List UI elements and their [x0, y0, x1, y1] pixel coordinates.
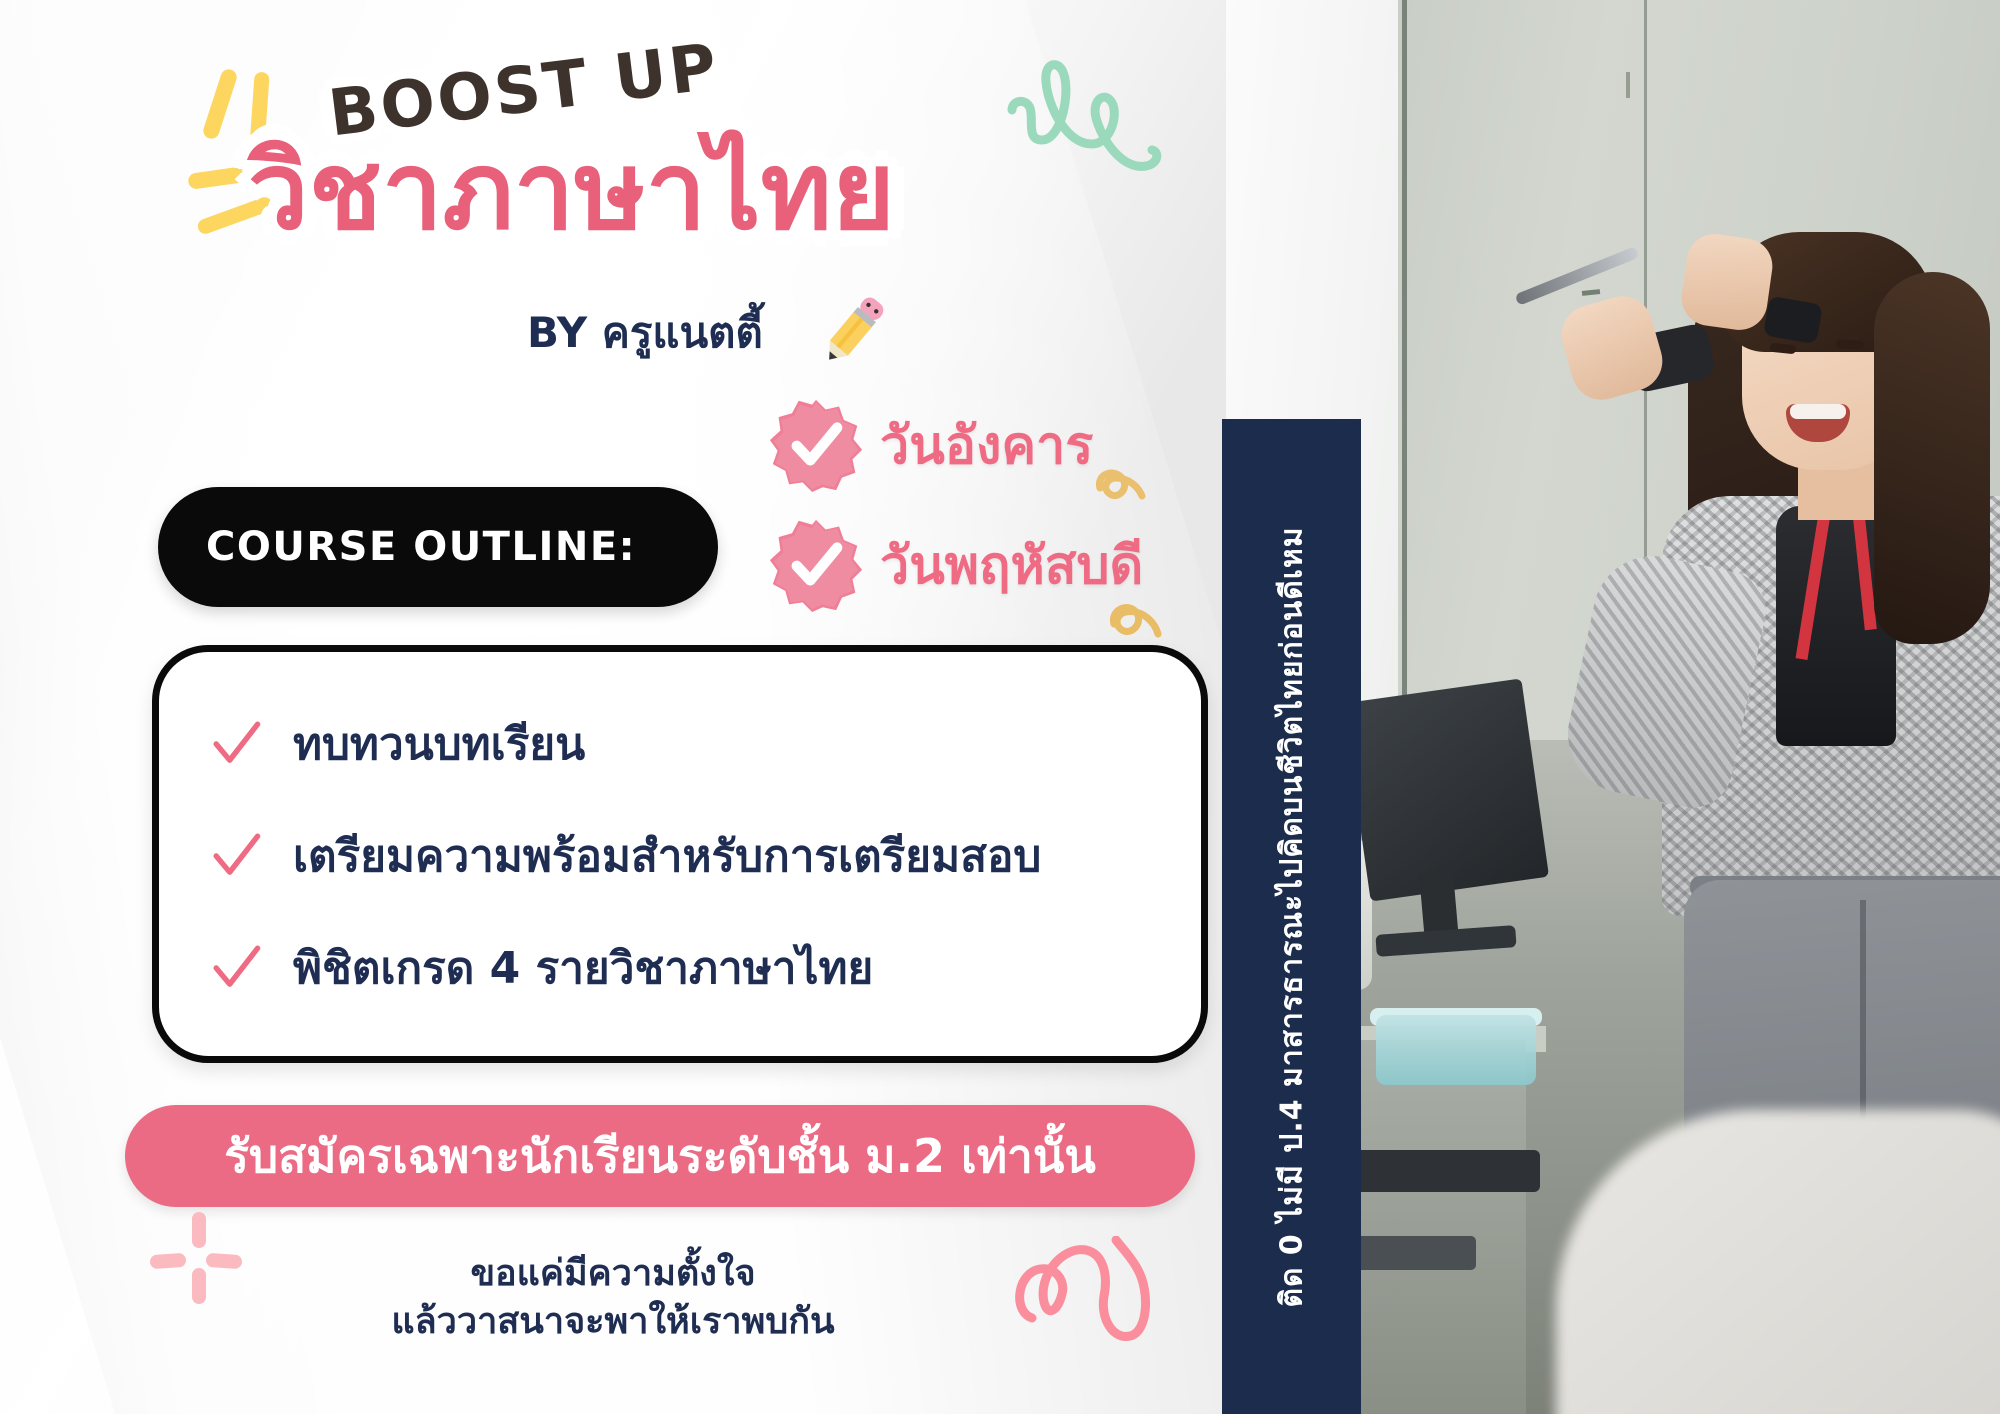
outline-item[interactable]: เตรียมความพร้อมสำหรับการเตรียมสอบ	[209, 800, 1151, 912]
check-badge-icon	[768, 516, 864, 612]
navy-vertical-strip: ติด 0 ไม่มี ป.4 มาสารธารณะไปคิดบนชีวิตไท…	[1222, 419, 1361, 1414]
schedule-days: วันอังคาร วันพฤหัสบดี	[768, 396, 1143, 636]
day-label: วันอังคาร	[880, 403, 1093, 486]
check-badge-icon	[768, 396, 864, 492]
course-outline-heading-text: COURSE OUTLINE:	[206, 524, 636, 570]
outline-item[interactable]: พิชิตเกรด 4 รายวิชาภาษาไทย	[209, 912, 1151, 1024]
byline: BY ครูแนตตี้	[527, 300, 763, 366]
outline-item-label: เตรียมความพร้อมสำหรับการเตรียมสอบ	[293, 821, 1041, 891]
teacher-hair-side	[1874, 272, 1990, 644]
check-icon	[209, 941, 263, 995]
sparkle-icon	[150, 1212, 246, 1308]
navy-strip-text: ติด 0 ไม่มี ป.4 มาสารธารณะไปคิดบนชีวิตไท…	[1268, 526, 1315, 1307]
day-label: วันพฤหัสบดี	[880, 523, 1143, 606]
teacher-teeth	[1790, 404, 1846, 419]
course-outline-heading-pill: COURSE OUTLINE:	[158, 487, 718, 607]
teacher-hand-upper	[1678, 230, 1776, 333]
outline-item-label: พิชิตเกรด 4 รายวิชาภาษาไทย	[293, 933, 873, 1003]
check-icon	[209, 829, 263, 883]
outline-item[interactable]: ทบทวนบทเรียน	[209, 688, 1151, 800]
day-row[interactable]: วันอังคาร	[768, 396, 1143, 492]
eligibility-banner: รับสมัครเฉพาะนักเรียนระดับชั้น ม.2 เท่าน…	[125, 1105, 1195, 1207]
check-icon	[209, 717, 263, 771]
day-row[interactable]: วันพฤหัสบดี	[768, 516, 1143, 612]
page-title: วิชาภาษาไทย	[248, 130, 1078, 270]
eligibility-banner-text: รับสมัครเฉพาะนักเรียนระดับชั้น ม.2 เท่าน…	[224, 1120, 1096, 1193]
course-outline-card: ทบทวนบทเรียน เตรียมความพร้อมสำหรับการเตร…	[152, 645, 1208, 1063]
outline-item-label: ทบทวนบทเรียน	[293, 709, 585, 779]
poster-root: ติด 0 ไม่มี ป.4 มาสารธารณะไปคิดบนชีวิตไท…	[0, 0, 2000, 1414]
teacher-eye-right	[1836, 339, 1865, 350]
